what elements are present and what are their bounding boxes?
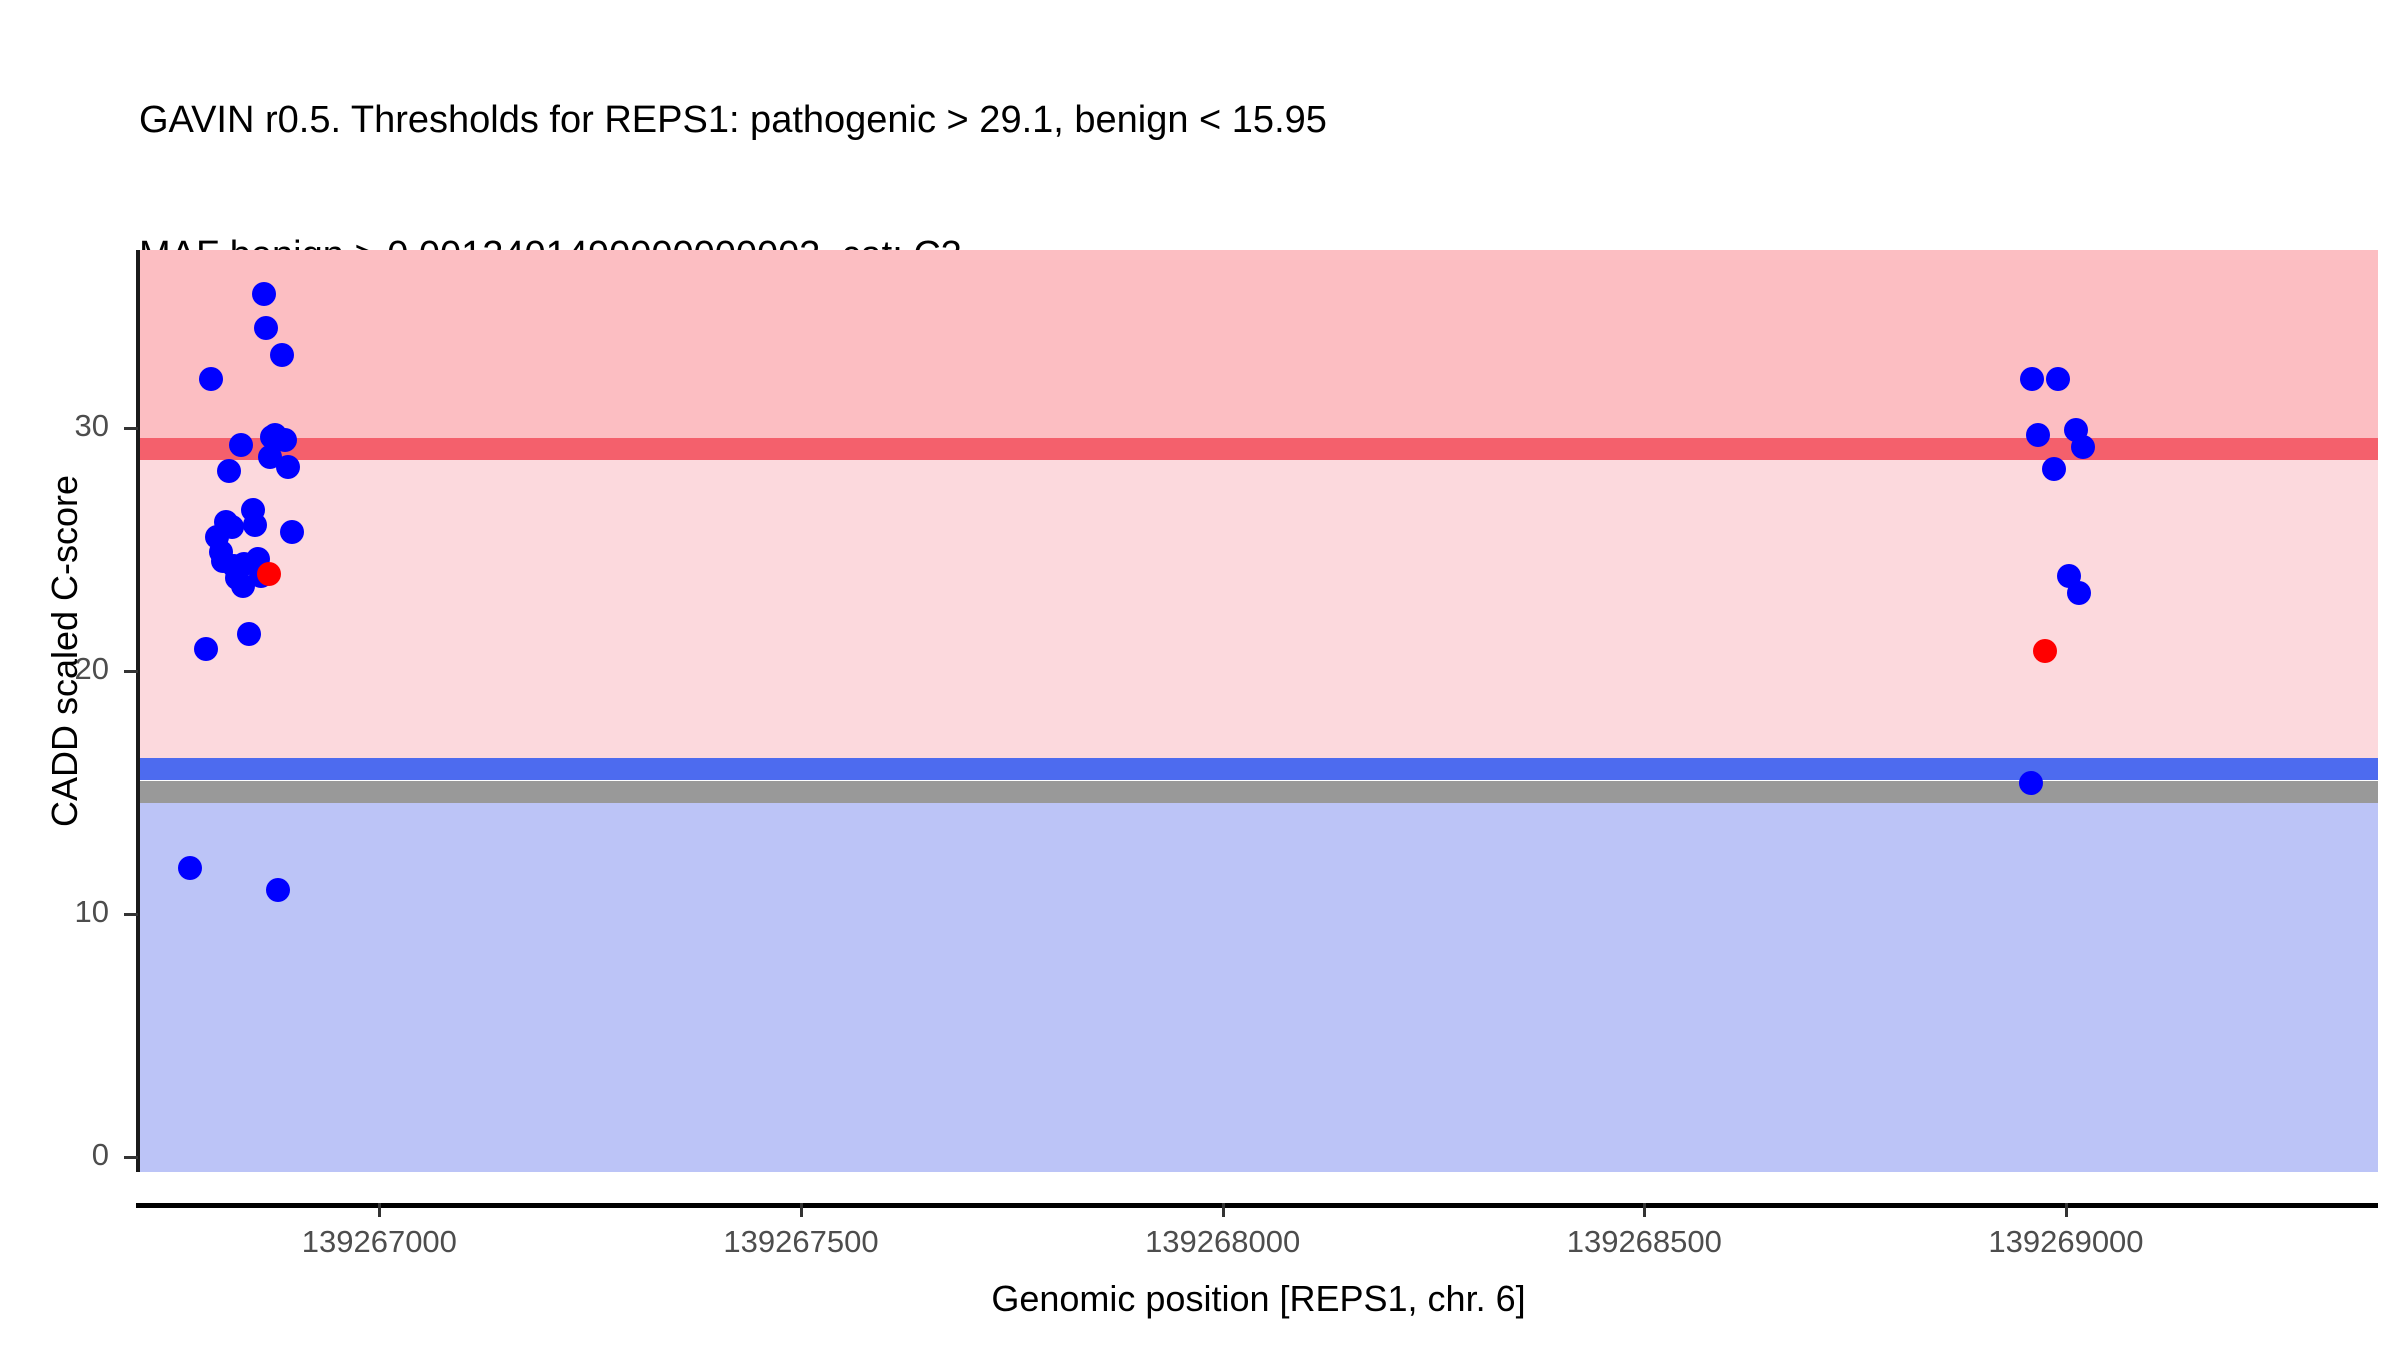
data-point <box>2071 435 2095 459</box>
y-tick-mark <box>124 913 138 916</box>
x-tick-label: 139267500 <box>671 1224 931 1260</box>
data-point <box>231 574 255 598</box>
data-point <box>2046 367 2070 391</box>
data-point <box>266 878 290 902</box>
plot-root: GAVIN r0.5. Thresholds for REPS1: pathog… <box>0 0 2400 1350</box>
y-axis-title: CADD scaled C-score <box>44 301 86 1001</box>
data-point <box>252 282 276 306</box>
data-point <box>199 367 223 391</box>
y-tick-label: 0 <box>0 1137 109 1173</box>
data-point <box>237 622 261 646</box>
data-point <box>2020 367 2044 391</box>
plot-panel <box>139 250 2378 1172</box>
data-point <box>257 562 281 586</box>
x-tick-mark <box>1643 1203 1646 1217</box>
data-point <box>220 515 244 539</box>
y-axis-line <box>136 250 140 1172</box>
benign-band <box>139 792 2378 1172</box>
data-point <box>178 856 202 880</box>
data-point <box>273 428 297 452</box>
data-point <box>276 455 300 479</box>
x-tick-mark <box>2065 1203 2068 1217</box>
x-tick-label: 139268500 <box>1514 1224 1774 1260</box>
y-tick-mark <box>124 670 138 673</box>
x-axis-line <box>136 1203 2378 1208</box>
x-tick-mark <box>800 1203 803 1217</box>
title-line-1: GAVIN r0.5. Thresholds for REPS1: pathog… <box>139 98 2339 143</box>
x-tick-label: 139267000 <box>249 1224 509 1260</box>
data-point <box>2042 457 2066 481</box>
x-axis-title: Genomic position [REPS1, chr. 6] <box>139 1278 2378 1320</box>
ambiguous-band <box>139 449 2378 769</box>
x-tick-label: 139269000 <box>1936 1224 2196 1260</box>
y-tick-mark <box>124 427 138 430</box>
benign-threshold-line <box>139 758 2378 780</box>
data-point <box>2067 581 2091 605</box>
data-point <box>254 316 278 340</box>
data-point <box>2019 771 2043 795</box>
x-tick-mark <box>378 1203 381 1217</box>
pathogenic-band <box>139 250 2378 449</box>
data-point <box>229 433 253 457</box>
data-point <box>194 637 218 661</box>
x-tick-mark <box>1222 1203 1225 1217</box>
y-tick-mark <box>124 1156 138 1159</box>
x-tick-label: 139268000 <box>1093 1224 1353 1260</box>
data-point <box>2026 423 2050 447</box>
data-point <box>270 343 294 367</box>
